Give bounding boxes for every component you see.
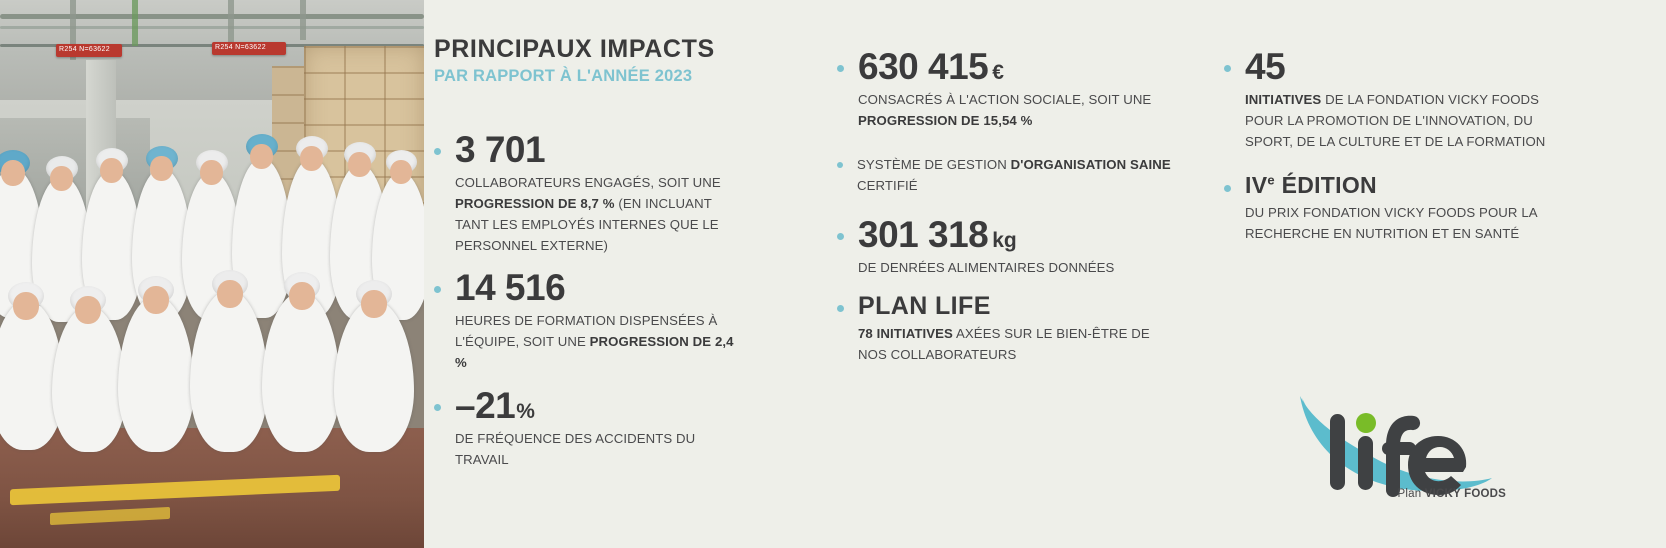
bullet-dot-icon — [837, 65, 844, 72]
bullet-dot-icon — [837, 162, 843, 168]
stat-value: 3 701 — [455, 129, 545, 170]
page-title-block: PRINCIPAUX IMPACTS PAR RAPPORT À L'ANNÉE… — [434, 36, 764, 86]
content-area: PRINCIPAUX IMPACTS PAR RAPPORT À L'ANNÉE… — [424, 0, 1666, 548]
photo-face — [75, 296, 101, 324]
stat-value: –21% — [455, 385, 535, 426]
stat-item-social-action: 630 415€ CONSACRÉS À L'ACTION SOCIALE, S… — [837, 48, 1177, 132]
photo-face — [13, 292, 39, 320]
bullet-dot-icon — [837, 233, 844, 240]
report-infographic-page: R254 N=63622 R254 N=63622 — [0, 0, 1666, 548]
photo-pipe — [0, 26, 424, 29]
bullet-dot-icon — [1224, 65, 1231, 72]
photo-red-sign-label: R254 N=63622 — [59, 46, 110, 53]
stat-description: 78 INITIATIVES AXÉES SUR LE BIEN-ÊTRE DE… — [858, 324, 1177, 366]
stat-value: 630 415€ — [858, 46, 1004, 87]
life-green-dot-icon — [1356, 413, 1376, 433]
bullet-dot-icon — [434, 148, 441, 155]
photo-conduit — [132, 0, 138, 46]
stat-unit: € — [988, 61, 1004, 84]
stat-description: SYSTÈME DE GESTION D'ORGANISATION SAINE … — [857, 155, 1177, 197]
stat-description: DE DENRÉES ALIMENTAIRES DONNÉES — [858, 258, 1177, 279]
stat-description: DU PRIX FONDATION VICKY FOODS POUR LA RE… — [1245, 203, 1564, 245]
stat-value: PLAN LIFE — [858, 292, 991, 320]
photo-worker — [262, 292, 340, 452]
stat-description: INITIATIVES DE LA FONDATION VICKY FOODS … — [1245, 90, 1564, 153]
bullet-dot-icon — [434, 404, 441, 411]
plan-life-logo: Plan VICKY FOODS — [1286, 390, 1506, 510]
stat-unit: kg — [988, 229, 1017, 252]
stat-value: 14 516 — [455, 267, 565, 308]
stat-item-management-system: SYSTÈME DE GESTION D'ORGANISATION SAINE … — [837, 155, 1177, 197]
stat-item-plan-life: PLAN LIFE 78 INITIATIVES AXÉES SUR LE BI… — [837, 294, 1177, 366]
photo-face — [100, 158, 123, 183]
page-subtitle: PAR RAPPORT À L'ANNÉE 2023 — [434, 67, 764, 86]
bullet-dot-icon — [837, 305, 844, 312]
photo-face — [289, 282, 315, 310]
stat-value: IVe ÉDITION — [1245, 172, 1377, 198]
stat-value: 301 318kg — [858, 214, 1017, 255]
photo-worker — [334, 300, 414, 452]
photo-face — [390, 160, 412, 184]
photo-red-sign: R254 N=63622 — [56, 44, 122, 57]
photo-face — [348, 152, 371, 177]
bullet-dot-icon — [434, 286, 441, 293]
stat-item-foundation-initiatives: 45 INITIATIVES DE LA FONDATION VICKY FOO… — [1224, 48, 1564, 153]
photo-red-sign: R254 N=63622 — [212, 42, 286, 55]
photo-face — [143, 286, 169, 314]
stat-value: 45 — [1245, 46, 1285, 87]
photo-face — [150, 156, 173, 181]
stat-item-food-donated: 301 318kg DE DENRÉES ALIMENTAIRES DONNÉE… — [837, 216, 1177, 279]
life-logo-caption: Plan VICKY FOODS — [1286, 488, 1506, 500]
photo-conduit — [300, 0, 306, 40]
page-title: PRINCIPAUX IMPACTS — [434, 36, 764, 62]
stat-item-training-hours: 14 516 HEURES DE FORMATION DISPENSÉES À … — [434, 269, 734, 374]
factory-team-photo: R254 N=63622 R254 N=63622 — [0, 0, 424, 548]
photo-face — [200, 160, 223, 185]
stat-description: DE FRÉQUENCE DES ACCIDENTS DU TRAVAIL — [455, 429, 734, 471]
stat-item-collaborators: 3 701 COLLABORATEURS ENGAGÉS, SOIT UNE P… — [434, 131, 734, 256]
photo-face — [300, 146, 323, 171]
stat-description: CONSACRÉS À L'ACTION SOCIALE, SOIT UNE P… — [858, 90, 1177, 132]
photo-red-sign-label: R254 N=63622 — [215, 44, 266, 51]
life-logo-graphic — [1286, 390, 1506, 500]
stat-unit: % — [515, 400, 535, 423]
photo-pipe — [0, 14, 424, 19]
stat-item-accident-frequency: –21% DE FRÉQUENCE DES ACCIDENTS DU TRAVA… — [434, 387, 734, 471]
bullet-dot-icon — [1224, 185, 1231, 192]
photo-face — [361, 290, 387, 318]
stat-item-prize-edition: IVe ÉDITION DU PRIX FONDATION VICKY FOOD… — [1224, 174, 1564, 245]
stat-description: COLLABORATEURS ENGAGÉS, SOIT UNE PROGRES… — [455, 173, 734, 256]
photo-face — [250, 144, 273, 169]
photo-face — [1, 160, 25, 186]
photo-face — [50, 166, 73, 191]
stat-description: HEURES DE FORMATION DISPENSÉES À L'ÉQUIP… — [455, 311, 734, 374]
photo-worker — [118, 296, 194, 452]
photo-face — [217, 280, 243, 308]
photo-worker — [52, 306, 126, 452]
